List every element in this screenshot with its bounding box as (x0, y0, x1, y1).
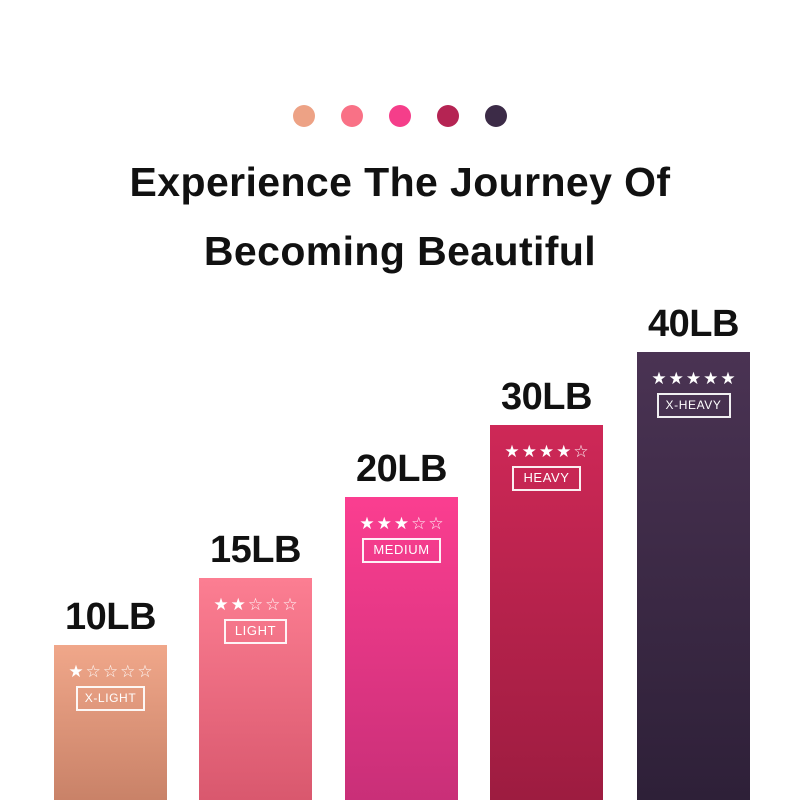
bar-30lb: ★★★★☆HEAVY (490, 425, 603, 800)
star-filled-icon: ★ (556, 443, 571, 460)
bar-weight-label: 40LB (648, 304, 739, 344)
level-label: HEAVY (512, 466, 580, 491)
star-empty-icon: ☆ (86, 663, 101, 680)
bar-weight-label: 10LB (65, 597, 156, 637)
star-empty-icon: ☆ (428, 515, 443, 532)
bar-badge: ★★★★★X-HEAVY (637, 370, 750, 418)
bar-weight-label: 20LB (356, 449, 447, 489)
star-empty-icon: ☆ (411, 515, 426, 532)
star-rating: ★★★★☆ (504, 443, 588, 460)
star-empty-icon: ☆ (248, 596, 263, 613)
bar-badge: ★★☆☆☆LIGHT (199, 596, 312, 644)
star-filled-icon: ★ (394, 515, 409, 532)
star-filled-icon: ★ (686, 370, 701, 387)
level-label: X-LIGHT (76, 686, 146, 711)
star-filled-icon: ★ (377, 515, 392, 532)
star-filled-icon: ★ (231, 596, 246, 613)
bar-40lb: ★★★★★X-HEAVY (637, 352, 750, 800)
bar-badge: ★☆☆☆☆X-LIGHT (54, 663, 167, 711)
star-rating: ★★☆☆☆ (213, 596, 297, 613)
star-empty-icon: ☆ (265, 596, 280, 613)
level-label: LIGHT (224, 619, 287, 644)
bar-group-10lb: 10LB★☆☆☆☆X-LIGHT (54, 645, 167, 800)
star-filled-icon: ★ (213, 596, 228, 613)
star-filled-icon: ★ (68, 663, 83, 680)
bar-badge: ★★★★☆HEAVY (490, 443, 603, 491)
star-filled-icon: ★ (522, 443, 537, 460)
bar-10lb: ★☆☆☆☆X-LIGHT (54, 645, 167, 800)
star-empty-icon: ☆ (120, 663, 135, 680)
bar-group-40lb: 40LB★★★★★X-HEAVY (637, 352, 750, 800)
bar-20lb: ★★★☆☆MEDIUM (345, 497, 458, 800)
star-filled-icon: ★ (359, 515, 374, 532)
bar-weight-label: 15LB (210, 530, 301, 570)
level-label: X-HEAVY (657, 393, 731, 418)
product-infographic: Experience The Journey Of Becoming Beaut… (0, 0, 800, 800)
level-label: MEDIUM (362, 538, 440, 563)
resistance-bar-chart: 10LB★☆☆☆☆X-LIGHT15LB★★☆☆☆LIGHT20LB★★★☆☆M… (0, 0, 800, 800)
bar-badge: ★★★☆☆MEDIUM (345, 515, 458, 563)
star-empty-icon: ☆ (103, 663, 118, 680)
bar-weight-label: 30LB (501, 377, 592, 417)
bar-group-30lb: 30LB★★★★☆HEAVY (490, 425, 603, 800)
bar-15lb: ★★☆☆☆LIGHT (199, 578, 312, 800)
star-filled-icon: ★ (651, 370, 666, 387)
star-filled-icon: ★ (703, 370, 718, 387)
bar-group-15lb: 15LB★★☆☆☆LIGHT (199, 578, 312, 800)
star-rating: ★★★★★ (651, 370, 735, 387)
star-filled-icon: ★ (539, 443, 554, 460)
star-filled-icon: ★ (504, 443, 519, 460)
star-rating: ★☆☆☆☆ (68, 663, 152, 680)
star-filled-icon: ★ (669, 370, 684, 387)
star-empty-icon: ☆ (573, 443, 588, 460)
bar-group-20lb: 20LB★★★☆☆MEDIUM (345, 497, 458, 800)
star-empty-icon: ☆ (282, 596, 297, 613)
star-rating: ★★★☆☆ (359, 515, 443, 532)
star-empty-icon: ☆ (137, 663, 152, 680)
star-filled-icon: ★ (720, 370, 735, 387)
